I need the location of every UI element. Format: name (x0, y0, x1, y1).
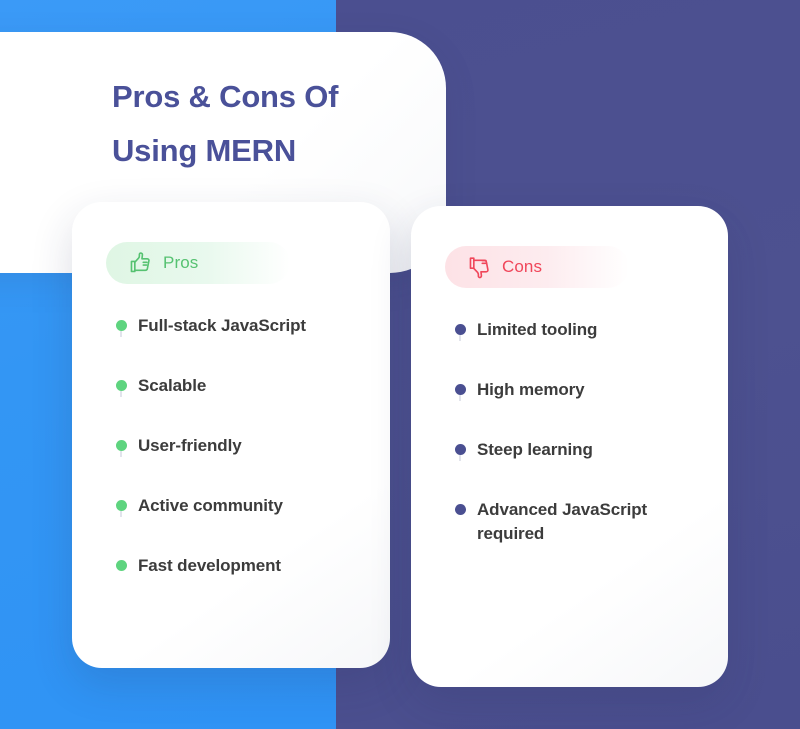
connector-line (121, 511, 122, 517)
connector-line (460, 455, 461, 461)
marker-column (445, 498, 475, 515)
cons-list: Limited tooling High memory Steep learni… (445, 318, 712, 558)
marker-column (106, 554, 136, 571)
bullet-dot (116, 320, 127, 331)
pros-list: Full-stack JavaScript Scalable User-frie… (106, 314, 374, 614)
marker-column (106, 494, 136, 511)
list-item: Fast development (106, 554, 374, 614)
pros-card: Pros Full-stack JavaScript Scalable (72, 202, 390, 668)
list-item-label: Active community (138, 494, 283, 518)
bullet-dot (455, 384, 466, 395)
list-item-label: High memory (477, 378, 585, 402)
bullet-dot (455, 504, 466, 515)
list-item-label: Fast development (138, 554, 281, 578)
list-item: Full-stack JavaScript (106, 314, 374, 374)
marker-column (106, 434, 136, 451)
list-item: Advanced JavaScript required (445, 498, 712, 558)
connector-line (121, 391, 122, 397)
connector-line (460, 395, 461, 401)
marker-column (445, 318, 475, 335)
list-item-label: Full-stack JavaScript (138, 314, 306, 338)
list-item: High memory (445, 378, 712, 438)
thumbs-up-icon (128, 250, 154, 276)
connector-line (121, 451, 122, 457)
list-item: Scalable (106, 374, 374, 434)
page-title: Pros & Cons Of Using MERN (112, 70, 442, 178)
marker-column (445, 438, 475, 455)
connector-line (121, 331, 122, 337)
bullet-dot (455, 324, 466, 335)
marker-column (106, 314, 136, 331)
thumbs-down-icon (467, 254, 493, 280)
bullet-dot (116, 560, 127, 571)
infographic-canvas: Pros & Cons Of Using MERN Pros Full-st (0, 0, 800, 729)
marker-column (106, 374, 136, 391)
connector-line (460, 335, 461, 341)
bullet-dot (116, 440, 127, 451)
list-item-label: Limited tooling (477, 318, 597, 342)
bullet-dot (116, 380, 127, 391)
bullet-dot (116, 500, 127, 511)
list-item-label: Advanced JavaScript required (477, 498, 712, 546)
bullet-dot (455, 444, 466, 455)
cons-badge: Cons (445, 246, 629, 288)
list-item: Limited tooling (445, 318, 712, 378)
list-item: Active community (106, 494, 374, 554)
list-item: Steep learning (445, 438, 712, 498)
pros-badge: Pros (106, 242, 290, 284)
cons-badge-label: Cons (502, 257, 542, 277)
list-item: User-friendly (106, 434, 374, 494)
pros-badge-label: Pros (163, 253, 198, 273)
marker-column (445, 378, 475, 395)
list-item-label: Steep learning (477, 438, 593, 462)
cons-card: Cons Limited tooling High memory (411, 206, 728, 687)
list-item-label: User-friendly (138, 434, 242, 458)
list-item-label: Scalable (138, 374, 206, 398)
